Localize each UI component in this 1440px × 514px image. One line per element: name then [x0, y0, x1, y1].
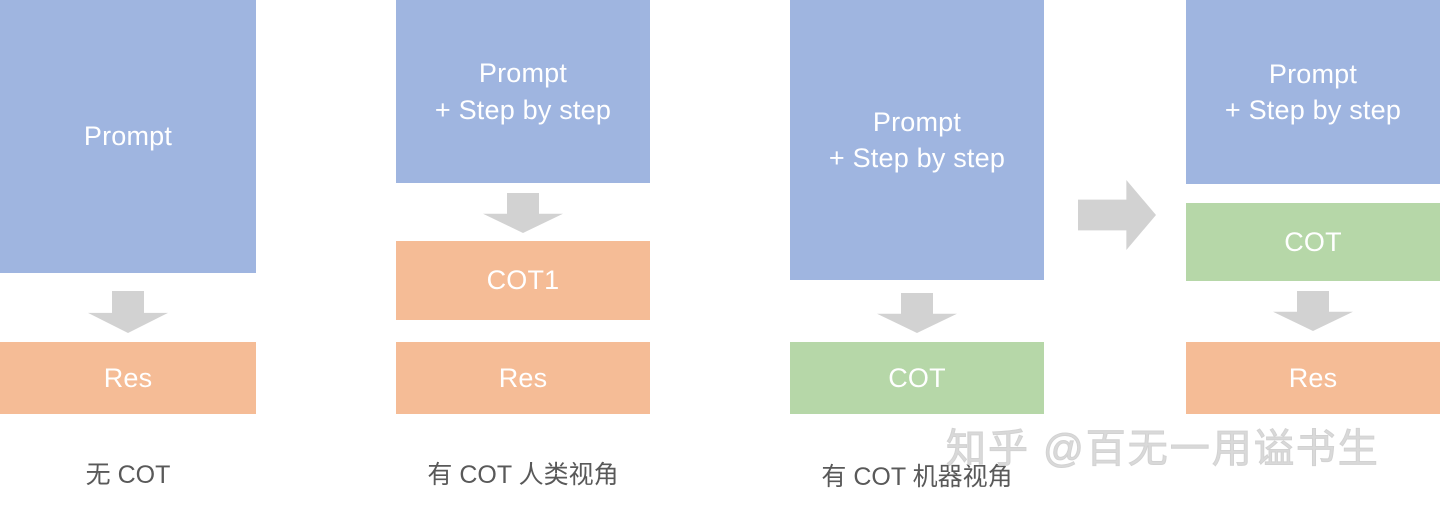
- node-res-col4: Res: [1186, 342, 1440, 414]
- arrow-right-icon-col3-to-col4: [1078, 180, 1156, 250]
- node-cot-col3: COT: [790, 342, 1044, 414]
- arrow-down-icon-col4: [1273, 291, 1353, 331]
- node-cot1-col2: COT1: [396, 241, 650, 320]
- node-res-col2: Res: [396, 342, 650, 414]
- node-res-col1: Res: [0, 342, 256, 414]
- caption-col1: 无 COT: [0, 460, 256, 490]
- arrow-down-icon-col2: [483, 193, 563, 233]
- caption-col3: 有 COT 机器视角: [790, 462, 1044, 492]
- arrow-down-icon-col1: [88, 291, 168, 333]
- node-prompt-col4: Prompt + Step by step: [1186, 0, 1440, 184]
- diagram-canvas: Prompt Res 无 COT Prompt + Step by step C…: [0, 0, 1440, 514]
- caption-col2: 有 COT 人类视角: [396, 460, 650, 490]
- node-prompt-col2: Prompt + Step by step: [396, 0, 650, 183]
- arrow-down-icon-col3: [877, 293, 957, 333]
- node-prompt-col1: Prompt: [0, 0, 256, 273]
- node-cot-col4: COT: [1186, 203, 1440, 281]
- node-prompt-col3: Prompt + Step by step: [790, 0, 1044, 280]
